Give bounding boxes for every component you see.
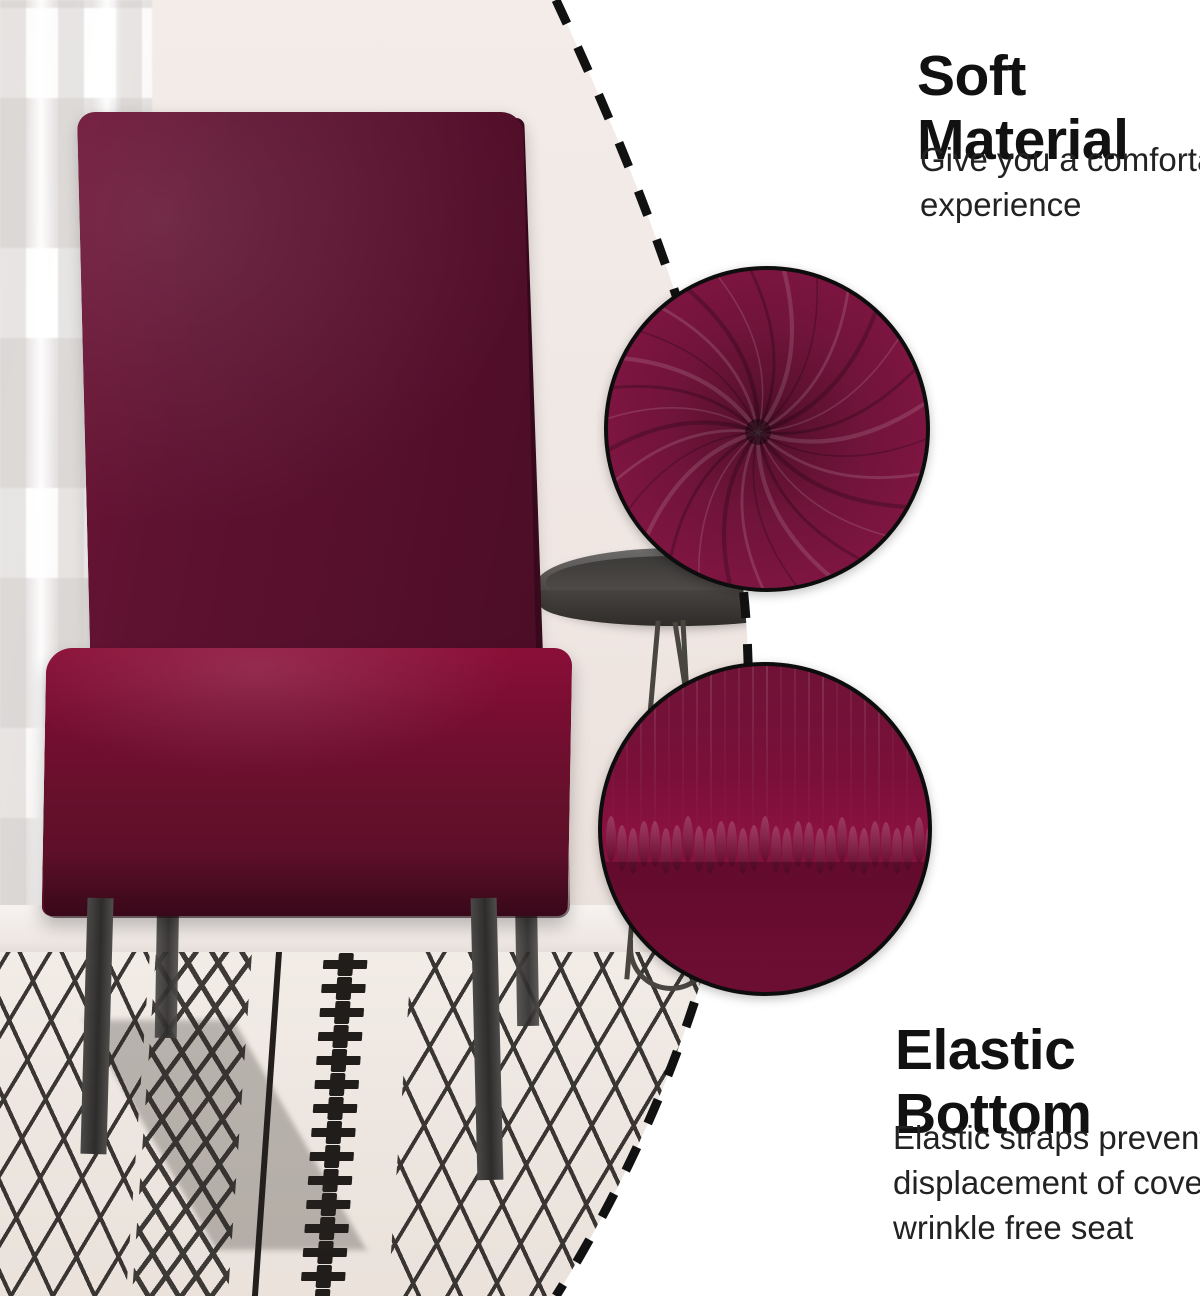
chair-backrest-cover (77, 112, 537, 692)
rug-cross-motif (314, 1080, 359, 1089)
rug-cross-motif (321, 984, 366, 993)
fabric-pleat (626, 666, 628, 846)
rug-lattice-right (387, 952, 712, 1296)
rug-cross-motif (319, 1008, 364, 1017)
rug-cross-motif (311, 1128, 356, 1137)
feature-description-elastic-bottom: Elastic straps prevents any displacement… (893, 1115, 1200, 1250)
rug-cross-motif (316, 1056, 361, 1065)
feature-description-soft-material: Give you a comfortable experience (920, 137, 1200, 227)
fabric-pleat (668, 666, 670, 846)
rug-lattice-left (0, 952, 150, 1296)
elastic-gather (606, 816, 616, 862)
fabric-pleat (640, 666, 642, 846)
rug-cross-motif (323, 960, 368, 969)
elastic-gather (650, 821, 660, 867)
rug-cross-motif (318, 1032, 363, 1041)
elastic-gather (639, 821, 649, 867)
rug-cross-motif (309, 1152, 354, 1161)
moroccan-rug (0, 952, 760, 1296)
product-photo (0, 0, 760, 1296)
feature-text-panel: Soft Material Give you a comfortable exp… (680, 0, 1200, 1296)
rug-cross-motif (301, 1272, 346, 1281)
rug-cross-motif (313, 1104, 358, 1113)
infographic-canvas: Soft Material Give you a comfortable exp… (0, 0, 1200, 1296)
fabric-pleat (654, 666, 656, 846)
